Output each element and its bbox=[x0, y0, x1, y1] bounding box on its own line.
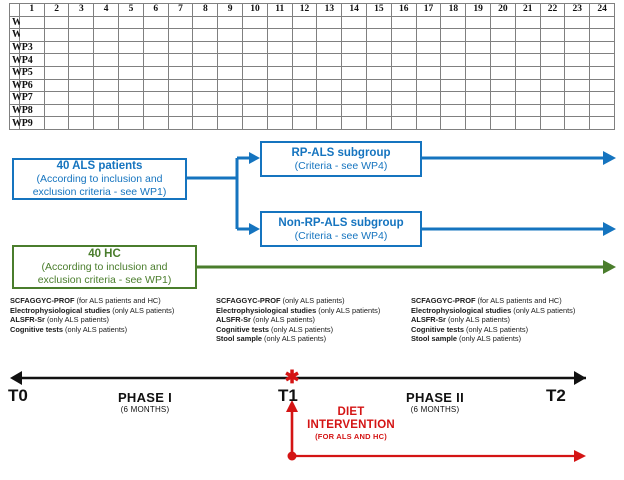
gantt-empty-cell-wp1-m6 bbox=[143, 16, 168, 29]
gantt-empty-cell-wp4-m3 bbox=[69, 54, 94, 67]
gantt-empty-cell-wp6-m19 bbox=[466, 79, 491, 92]
gantt-empty-cell-wp8-m18 bbox=[441, 104, 466, 117]
assessment-item-scope: (only ALS patients) bbox=[110, 306, 174, 315]
gantt-empty-cell-wp6-m12 bbox=[292, 79, 317, 92]
assessment-item: Stool sample (only ALS patients) bbox=[411, 334, 611, 344]
gantt-row-label-wp9: WP9 bbox=[10, 117, 20, 130]
gantt-empty-cell-wp5-m5 bbox=[119, 66, 144, 79]
assessment-item: Stool sample (only ALS patients) bbox=[216, 334, 411, 344]
gantt-month-header-16: 16 bbox=[391, 4, 416, 17]
gantt-empty-cell-wp2-m16 bbox=[391, 29, 416, 42]
gantt-empty-cell-wp8-m12 bbox=[292, 104, 317, 117]
gantt-empty-cell-wp8-m10 bbox=[243, 104, 268, 117]
gantt-empty-cell-wp2-m19 bbox=[466, 29, 491, 42]
gantt-empty-cell-wp1-m13 bbox=[317, 16, 342, 29]
gantt-bar-cell-wp7-m12 bbox=[292, 92, 317, 105]
assessment-item: Electrophysiological studies (only ALS p… bbox=[216, 306, 411, 316]
gantt-empty-cell-wp7-m21 bbox=[515, 92, 540, 105]
gantt-empty-cell-wp5-m2 bbox=[44, 66, 69, 79]
gantt-empty-cell-wp8-m24 bbox=[590, 104, 615, 117]
gantt-month-header-12: 12 bbox=[292, 4, 317, 17]
gantt-bar-cell-wp6-m15 bbox=[367, 79, 392, 92]
gantt-bar-cell-wp3-m5 bbox=[119, 41, 144, 54]
gantt-month-header-3: 3 bbox=[69, 4, 94, 17]
gantt-row-wp9: WP9 bbox=[10, 117, 615, 130]
gantt-month-header-4: 4 bbox=[94, 4, 119, 17]
gantt-empty-cell-wp6-m2 bbox=[44, 79, 69, 92]
assessment-item: Cognitive tests (only ALS patients) bbox=[10, 325, 210, 335]
gantt-month-header-17: 17 bbox=[416, 4, 441, 17]
timepoint-t2-label: T2 bbox=[546, 386, 566, 406]
assessment-item-scope: (only ALS patients) bbox=[316, 306, 380, 315]
gantt-empty-cell-wp9-m13 bbox=[317, 117, 342, 130]
gantt-row-wp4: WP4 bbox=[10, 54, 615, 67]
gantt-bar-cell-wp9-m16 bbox=[391, 117, 416, 130]
gantt-bar-cell-wp4-m9 bbox=[218, 54, 243, 67]
gantt-empty-cell-wp8-m2 bbox=[44, 104, 69, 117]
gantt-empty-cell-wp3-m22 bbox=[540, 41, 565, 54]
gantt-bar-cell-wp1-m2 bbox=[44, 16, 69, 29]
gantt-row-label-wp3: WP3 bbox=[10, 41, 20, 54]
rp-als-subgroup-box[interactable]: RP-ALS subgroup (Criteria - see WP4) bbox=[260, 141, 422, 177]
gantt-empty-cell-wp7-m5 bbox=[119, 92, 144, 105]
gantt-empty-cell-wp7-m16 bbox=[391, 92, 416, 105]
gantt-row-wp7: WP7 bbox=[10, 92, 615, 105]
als-box-title: 40 ALS patients bbox=[14, 159, 185, 173]
gantt-empty-cell-wp2-m18 bbox=[441, 29, 466, 42]
gantt-bar-cell-wp8-m19 bbox=[466, 104, 491, 117]
gantt-month-header-10: 10 bbox=[243, 4, 268, 17]
gantt-row-label-wp1: WP1 bbox=[10, 16, 20, 29]
gantt-bar-cell-wp8-m8 bbox=[193, 104, 218, 117]
gantt-row-label-wp4: WP4 bbox=[10, 54, 20, 67]
gantt-empty-cell-wp9-m10 bbox=[243, 117, 268, 130]
gantt-empty-cell-wp7-m3 bbox=[69, 92, 94, 105]
gantt-empty-cell-wp1-m3 bbox=[69, 16, 94, 29]
gantt-month-header-24: 24 bbox=[590, 4, 615, 17]
gantt-empty-cell-wp3-m16 bbox=[391, 41, 416, 54]
gantt-empty-cell-wp2-m15 bbox=[367, 29, 392, 42]
assessment-item-name: Electrophysiological studies bbox=[216, 306, 316, 315]
gantt-empty-cell-wp9-m8 bbox=[193, 117, 218, 130]
gantt-empty-cell-wp1-m14 bbox=[342, 16, 367, 29]
gantt-bar-cell-wp7-m11 bbox=[267, 92, 292, 105]
gantt-bar-cell-wp8-m13 bbox=[317, 104, 342, 117]
gantt-empty-cell-wp2-m11 bbox=[267, 29, 292, 42]
gantt-empty-cell-wp3-m15 bbox=[367, 41, 392, 54]
gantt-empty-cell-wp7-m20 bbox=[491, 92, 516, 105]
als-box-line3: exclusion criteria - see WP1) bbox=[14, 186, 185, 199]
gantt-empty-cell-wp6-m14 bbox=[342, 79, 367, 92]
gantt-empty-cell-wp9-m5 bbox=[119, 117, 144, 130]
gantt-month-header-1: 1 bbox=[19, 4, 44, 17]
gantt-bar-cell-wp5-m9 bbox=[218, 66, 243, 79]
gantt-row-wp8: WP8 bbox=[10, 104, 615, 117]
gantt-row-label-wp8: WP8 bbox=[10, 104, 20, 117]
gantt-empty-cell-wp6-m18 bbox=[441, 79, 466, 92]
assessment-item-scope: (for ALS patients and HC) bbox=[74, 296, 160, 305]
gantt-empty-cell-wp3-m24 bbox=[590, 41, 615, 54]
gantt-empty-cell-wp8-m15 bbox=[367, 104, 392, 117]
gantt-month-header-22: 22 bbox=[540, 4, 565, 17]
gantt-bar-cell-wp7-m7 bbox=[168, 92, 193, 105]
gantt-empty-cell-wp1-m17 bbox=[416, 16, 441, 29]
gantt-bar-cell-wp6-m17 bbox=[416, 79, 441, 92]
gantt-bar-cell-wp7-m18 bbox=[441, 92, 466, 105]
gantt-month-header-15: 15 bbox=[367, 4, 392, 17]
gantt-header-row: 123456789101112131415161718192021222324 bbox=[10, 4, 615, 17]
als-patients-box[interactable]: 40 ALS patients (According to inclusion … bbox=[12, 158, 187, 200]
gantt-empty-cell-wp9-m2 bbox=[44, 117, 69, 130]
gantt-bar-cell-wp4-m11 bbox=[267, 54, 292, 67]
gantt-empty-cell-wp6-m21 bbox=[515, 79, 540, 92]
assessment-item-scope: (only ALS patients) bbox=[269, 325, 333, 334]
gantt-empty-cell-wp5-m22 bbox=[540, 66, 565, 79]
gantt-empty-cell-wp8-m5 bbox=[119, 104, 144, 117]
gantt-bar-cell-wp9-m22 bbox=[540, 117, 565, 130]
gantt-bar-cell-wp5-m11 bbox=[267, 66, 292, 79]
gantt-empty-cell-wp8-m20 bbox=[491, 104, 516, 117]
gantt-empty-cell-wp7-m10 bbox=[243, 92, 268, 105]
gantt-empty-cell-wp7-m9 bbox=[218, 92, 243, 105]
gantt-empty-cell-wp5-m6 bbox=[143, 66, 168, 79]
gantt-empty-cell-wp1-m24 bbox=[590, 16, 615, 29]
gantt-bar-cell-wp6-m16 bbox=[391, 79, 416, 92]
gantt-row-wp1: WP1 bbox=[10, 16, 615, 29]
gantt-bar-cell-wp9-m21 bbox=[515, 117, 540, 130]
gantt-empty-cell-wp4-m22 bbox=[540, 54, 565, 67]
assessment-item-name: SCFAGGYC-PROF bbox=[10, 296, 74, 305]
gantt-empty-cell-wp6-m5 bbox=[119, 79, 144, 92]
gantt-empty-cell-wp3-m23 bbox=[565, 41, 590, 54]
gantt-empty-cell-wp3-m12 bbox=[292, 41, 317, 54]
gantt-empty-cell-wp1-m12 bbox=[292, 16, 317, 29]
gantt-empty-cell-wp4-m24 bbox=[590, 54, 615, 67]
assessment-item-name: Cognitive tests bbox=[411, 325, 464, 334]
gantt-empty-cell-wp5-m24 bbox=[590, 66, 615, 79]
gantt-empty-cell-wp9-m9 bbox=[218, 117, 243, 130]
gantt-month-header-2: 2 bbox=[44, 4, 69, 17]
gantt-empty-cell-wp5-m23 bbox=[565, 66, 590, 79]
gantt-empty-cell-wp2-m24 bbox=[590, 29, 615, 42]
gantt-empty-cell-wp1-m11 bbox=[267, 16, 292, 29]
gantt-empty-cell-wp1-m9 bbox=[218, 16, 243, 29]
gantt-empty-cell-wp3-m7 bbox=[168, 41, 193, 54]
assessment-item-name: Stool sample bbox=[216, 334, 262, 343]
gantt-month-header-7: 7 bbox=[168, 4, 193, 17]
rp-als-box-title: RP-ALS subgroup bbox=[262, 146, 420, 160]
assessment-item-name: ALSFR-Sr bbox=[216, 315, 251, 324]
diet-intervention-block: DIET INTERVENTION (FOR ALS AND HC) bbox=[296, 406, 406, 441]
gantt-empty-cell-wp3-m18 bbox=[441, 41, 466, 54]
gantt-bar-cell-wp2-m1 bbox=[19, 29, 44, 42]
gantt-empty-cell-wp6-m6 bbox=[143, 79, 168, 92]
gantt-row-label-wp7: WP7 bbox=[10, 92, 20, 105]
gantt-empty-cell-wp8-m9 bbox=[218, 104, 243, 117]
gantt-empty-cell-wp3-m13 bbox=[317, 41, 342, 54]
assessments-t0-list: SCFAGGYC-PROF (for ALS patients and HC)E… bbox=[10, 296, 210, 334]
gantt-bar-cell-wp5-m18 bbox=[441, 66, 466, 79]
gantt-corner-cell bbox=[10, 4, 20, 17]
gantt-empty-cell-wp8-m11 bbox=[267, 104, 292, 117]
gantt-empty-cell-wp8-m17 bbox=[416, 104, 441, 117]
gantt-empty-cell-wp7-m2 bbox=[44, 92, 69, 105]
gantt-empty-cell-wp7-m22 bbox=[540, 92, 565, 105]
gantt-empty-cell-wp6-m11 bbox=[267, 79, 292, 92]
gantt-month-header-8: 8 bbox=[193, 4, 218, 17]
assessment-item-scope: (only ALS patients) bbox=[63, 325, 127, 334]
assessment-item: Cognitive tests (only ALS patients) bbox=[411, 325, 611, 335]
gantt-bar-cell-wp9-m24 bbox=[590, 117, 615, 130]
gantt-bar-cell-wp4-m10 bbox=[243, 54, 268, 67]
gantt-bar-cell-wp9-m19 bbox=[466, 117, 491, 130]
gantt-bar-cell-wp9-m15 bbox=[367, 117, 392, 130]
gantt-empty-cell-wp2-m8 bbox=[193, 29, 218, 42]
phase-1-name: PHASE I bbox=[80, 390, 210, 405]
non-rp-als-box-title: Non-RP-ALS subgroup bbox=[262, 216, 420, 230]
gantt-empty-cell-wp7-m19 bbox=[466, 92, 491, 105]
timepoint-t0-label: T0 bbox=[8, 386, 28, 406]
gantt-empty-cell-wp7-m23 bbox=[565, 92, 590, 105]
gantt-bar-cell-wp3-m3 bbox=[69, 41, 94, 54]
gantt-empty-cell-wp8-m22 bbox=[540, 104, 565, 117]
gantt-empty-cell-wp2-m13 bbox=[317, 29, 342, 42]
gantt-bar-cell-wp5-m10 bbox=[243, 66, 268, 79]
gantt-empty-cell-wp2-m7 bbox=[168, 29, 193, 42]
assessment-item-scope: (only ALS patients) bbox=[511, 306, 575, 315]
assessment-item-scope: (only ALS patients) bbox=[45, 315, 109, 324]
assessment-item-name: Stool sample bbox=[411, 334, 457, 343]
gantt-empty-cell-wp6-m8 bbox=[193, 79, 218, 92]
assessment-item: SCFAGGYC-PROF (only ALS patients) bbox=[216, 296, 411, 306]
gantt-empty-cell-wp6-m4 bbox=[94, 79, 119, 92]
diet-line-1: DIET bbox=[296, 406, 406, 419]
gantt-empty-cell-wp3-m9 bbox=[218, 41, 243, 54]
gantt-bar-cell-wp7-m17 bbox=[416, 92, 441, 105]
gantt-row-label-wp6: WP6 bbox=[10, 79, 20, 92]
gantt-empty-cell-wp1-m10 bbox=[243, 16, 268, 29]
gantt-empty-cell-wp4-m5 bbox=[119, 54, 144, 67]
gantt-empty-cell-wp6-m20 bbox=[491, 79, 516, 92]
gantt-empty-cell-wp5-m7 bbox=[168, 66, 193, 79]
gantt-empty-cell-wp8-m6 bbox=[143, 104, 168, 117]
gantt-empty-cell-wp3-m21 bbox=[515, 41, 540, 54]
gantt-empty-cell-wp6-m10 bbox=[243, 79, 268, 92]
gantt-bar-cell-wp5-m16 bbox=[391, 66, 416, 79]
phase-2-name: PHASE II bbox=[370, 390, 500, 405]
gantt-empty-cell-wp8-m14 bbox=[342, 104, 367, 117]
gantt-empty-cell-wp3-m8 bbox=[193, 41, 218, 54]
gantt-bar-cell-wp5-m12 bbox=[292, 66, 317, 79]
healthy-controls-box[interactable]: 40 HC (According to inclusion and exclus… bbox=[12, 245, 197, 289]
phase-1-block: PHASE I (6 MONTHS) bbox=[80, 390, 210, 414]
gantt-empty-cell-wp8-m21 bbox=[515, 104, 540, 117]
gantt-month-header-11: 11 bbox=[267, 4, 292, 17]
gantt-empty-cell-wp6-m24 bbox=[590, 79, 615, 92]
gantt-empty-cell-wp5-m4 bbox=[94, 66, 119, 79]
assessment-item-scope: (only ALS patients) bbox=[457, 334, 521, 343]
assessment-item-scope: (only ALS patients) bbox=[251, 315, 315, 324]
hc-box-line3: exclusion criteria - see WP1) bbox=[14, 274, 195, 287]
gantt-bar-cell-wp2-m2 bbox=[44, 29, 69, 42]
gantt-empty-cell-wp5-m3 bbox=[69, 66, 94, 79]
assessment-item: Electrophysiological studies (only ALS p… bbox=[411, 306, 611, 316]
gantt-empty-cell-wp4-m23 bbox=[565, 54, 590, 67]
gantt-empty-cell-wp3-m20 bbox=[491, 41, 516, 54]
gantt-empty-cell-wp3-m10 bbox=[243, 41, 268, 54]
gantt-bar-cell-wp9-m23 bbox=[565, 117, 590, 130]
gantt-empty-cell-wp9-m4 bbox=[94, 117, 119, 130]
assessment-item: ALSFR-Sr (only ALS patients) bbox=[10, 315, 210, 325]
gantt-empty-cell-wp4-m20 bbox=[491, 54, 516, 67]
gantt-empty-cell-wp3-m6 bbox=[143, 41, 168, 54]
assessment-item-scope: (only ALS patients) bbox=[262, 334, 326, 343]
gantt-empty-cell-wp1-m4 bbox=[94, 16, 119, 29]
gantt-empty-cell-wp6-m7 bbox=[168, 79, 193, 92]
study-flow-diagram: 40 ALS patients (According to inclusion … bbox=[0, 140, 624, 290]
gantt-bar-cell-wp5-m17 bbox=[416, 66, 441, 79]
gantt-empty-cell-wp9-m11 bbox=[267, 117, 292, 130]
gantt-chart: 123456789101112131415161718192021222324 … bbox=[9, 3, 615, 125]
assessment-item-name: Electrophysiological studies bbox=[411, 306, 511, 315]
assessment-item: ALSFR-Sr (only ALS patients) bbox=[411, 315, 611, 325]
gantt-bar-cell-wp3-m4 bbox=[94, 41, 119, 54]
gantt-month-header-18: 18 bbox=[441, 4, 466, 17]
gantt-month-header-20: 20 bbox=[491, 4, 516, 17]
assessment-item-name: ALSFR-Sr bbox=[411, 315, 446, 324]
gantt-empty-cell-wp2-m23 bbox=[565, 29, 590, 42]
study-timeline: ✱ T0 T1 T2 PHASE I (6 MONTHS) PHASE II (… bbox=[0, 368, 624, 480]
assessment-item: SCFAGGYC-PROF (for ALS patients and HC) bbox=[411, 296, 611, 306]
diet-line-2: INTERVENTION bbox=[296, 419, 406, 432]
rp-als-box-line2: (Criteria - see WP4) bbox=[262, 160, 420, 173]
gantt-empty-cell-wp6-m22 bbox=[540, 79, 565, 92]
gantt-empty-cell-wp2-m9 bbox=[218, 29, 243, 42]
svg-text:✱: ✱ bbox=[284, 368, 299, 387]
assessment-item: Electrophysiological studies (only ALS p… bbox=[10, 306, 210, 316]
assessment-item: Cognitive tests (only ALS patients) bbox=[216, 325, 411, 335]
assessments-t1-list: SCFAGGYC-PROF (only ALS patients)Electro… bbox=[216, 296, 411, 344]
gantt-empty-cell-wp2-m20 bbox=[491, 29, 516, 42]
gantt-empty-cell-wp4-m4 bbox=[94, 54, 119, 67]
gantt-empty-cell-wp7-m24 bbox=[590, 92, 615, 105]
gantt-row-label-wp5: WP5 bbox=[10, 66, 20, 79]
gantt-empty-cell-wp8-m4 bbox=[94, 104, 119, 117]
gantt-empty-cell-wp4-m16 bbox=[391, 54, 416, 67]
gantt-empty-cell-wp4-m2 bbox=[44, 54, 69, 67]
gantt-empty-cell-wp7-m13 bbox=[317, 92, 342, 105]
gantt-empty-cell-wp2-m4 bbox=[94, 29, 119, 42]
gantt-empty-cell-wp1-m18 bbox=[441, 16, 466, 29]
assessment-item-name: Electrophysiological studies bbox=[10, 306, 110, 315]
gantt-bar-cell-wp5-m15 bbox=[367, 66, 392, 79]
gantt-empty-cell-wp5-m8 bbox=[193, 66, 218, 79]
gantt-empty-cell-wp1-m5 bbox=[119, 16, 144, 29]
gantt-empty-cell-wp2-m17 bbox=[416, 29, 441, 42]
timepoint-t1-label: T1 bbox=[278, 386, 298, 406]
gantt-row-label-wp2: WP2 bbox=[10, 29, 20, 42]
gantt-row-wp3: WP3 bbox=[10, 41, 615, 54]
gantt-month-header-21: 21 bbox=[515, 4, 540, 17]
gantt-empty-cell-wp2-m12 bbox=[292, 29, 317, 42]
gantt-empty-cell-wp4-m12 bbox=[292, 54, 317, 67]
gantt-empty-cell-wp6-m9 bbox=[218, 79, 243, 92]
gantt-empty-cell-wp4-m13 bbox=[317, 54, 342, 67]
gantt-empty-cell-wp8-m3 bbox=[69, 104, 94, 117]
gantt-empty-cell-wp6-m3 bbox=[69, 79, 94, 92]
gantt-empty-cell-wp1-m22 bbox=[540, 16, 565, 29]
gantt-empty-cell-wp7-m14 bbox=[342, 92, 367, 105]
gantt-month-header-14: 14 bbox=[342, 4, 367, 17]
gantt-month-header-9: 9 bbox=[218, 4, 243, 17]
gantt-empty-cell-wp7-m4 bbox=[94, 92, 119, 105]
gantt-empty-cell-wp2-m3 bbox=[69, 29, 94, 42]
assessments-t2-list: SCFAGGYC-PROF (for ALS patients and HC)E… bbox=[411, 296, 611, 344]
gantt-row-wp2: WP2 bbox=[10, 29, 615, 42]
gantt-empty-cell-wp9-m14 bbox=[342, 117, 367, 130]
gantt-row-wp6: WP6 bbox=[10, 79, 615, 92]
gantt-empty-cell-wp3-m2 bbox=[44, 41, 69, 54]
assessment-item-name: ALSFR-Sr bbox=[10, 315, 45, 324]
gantt-empty-cell-wp3-m19 bbox=[466, 41, 491, 54]
gantt-bar-cell-wp5-m21 bbox=[515, 66, 540, 79]
gantt-empty-cell-wp1-m16 bbox=[391, 16, 416, 29]
gantt-table: 123456789101112131415161718192021222324 … bbox=[9, 3, 615, 130]
gantt-empty-cell-wp1-m7 bbox=[168, 16, 193, 29]
gantt-empty-cell-wp4-m14 bbox=[342, 54, 367, 67]
gantt-empty-cell-wp2-m6 bbox=[143, 29, 168, 42]
gantt-empty-cell-wp1-m23 bbox=[565, 16, 590, 29]
gantt-empty-cell-wp6-m23 bbox=[565, 79, 590, 92]
gantt-bar-cell-wp5-m13 bbox=[317, 66, 342, 79]
gantt-bar-cell-wp9-m18 bbox=[441, 117, 466, 130]
non-rp-als-box-line2: (Criteria - see WP4) bbox=[262, 230, 420, 243]
assessment-item-name: SCFAGGYC-PROF bbox=[216, 296, 280, 305]
non-rp-als-subgroup-box[interactable]: Non-RP-ALS subgroup (Criteria - see WP4) bbox=[260, 211, 422, 247]
als-box-line2: (According to inclusion and bbox=[14, 173, 185, 186]
gantt-bar-cell-wp1-m1 bbox=[19, 16, 44, 29]
assessment-item-scope: (only ALS patients) bbox=[280, 296, 344, 305]
assessment-item: ALSFR-Sr (only ALS patients) bbox=[216, 315, 411, 325]
gantt-empty-cell-wp4-m17 bbox=[416, 54, 441, 67]
gantt-empty-cell-wp1-m19 bbox=[466, 16, 491, 29]
gantt-empty-cell-wp6-m13 bbox=[317, 79, 342, 92]
gantt-bar-cell-wp5-m19 bbox=[466, 66, 491, 79]
gantt-month-header-23: 23 bbox=[565, 4, 590, 17]
gantt-empty-cell-wp2-m21 bbox=[515, 29, 540, 42]
gantt-empty-cell-wp8-m23 bbox=[565, 104, 590, 117]
hc-box-line2: (According to inclusion and bbox=[14, 261, 195, 274]
gantt-empty-cell-wp3-m14 bbox=[342, 41, 367, 54]
gantt-empty-cell-wp1-m8 bbox=[193, 16, 218, 29]
gantt-bar-cell-wp9-m20 bbox=[491, 117, 516, 130]
gantt-bar-cell-wp9-m17 bbox=[416, 117, 441, 130]
gantt-empty-cell-wp4-m19 bbox=[466, 54, 491, 67]
gantt-empty-cell-wp8-m7 bbox=[168, 104, 193, 117]
gantt-empty-cell-wp3-m11 bbox=[267, 41, 292, 54]
gantt-empty-cell-wp4-m15 bbox=[367, 54, 392, 67]
assessment-item-name: Cognitive tests bbox=[216, 325, 269, 334]
gantt-empty-cell-wp2-m5 bbox=[119, 29, 144, 42]
gantt-empty-cell-wp4-m18 bbox=[441, 54, 466, 67]
assessment-item-name: SCFAGGYC-PROF bbox=[411, 296, 475, 305]
gantt-empty-cell-wp1-m15 bbox=[367, 16, 392, 29]
diet-line-3: (FOR ALS AND HC) bbox=[296, 432, 406, 441]
gantt-bar-cell-wp7-m6 bbox=[143, 92, 168, 105]
assessment-item-scope: (for ALS patients and HC) bbox=[475, 296, 561, 305]
gantt-row-wp5: WP5 bbox=[10, 66, 615, 79]
gantt-empty-cell-wp9-m12 bbox=[292, 117, 317, 130]
